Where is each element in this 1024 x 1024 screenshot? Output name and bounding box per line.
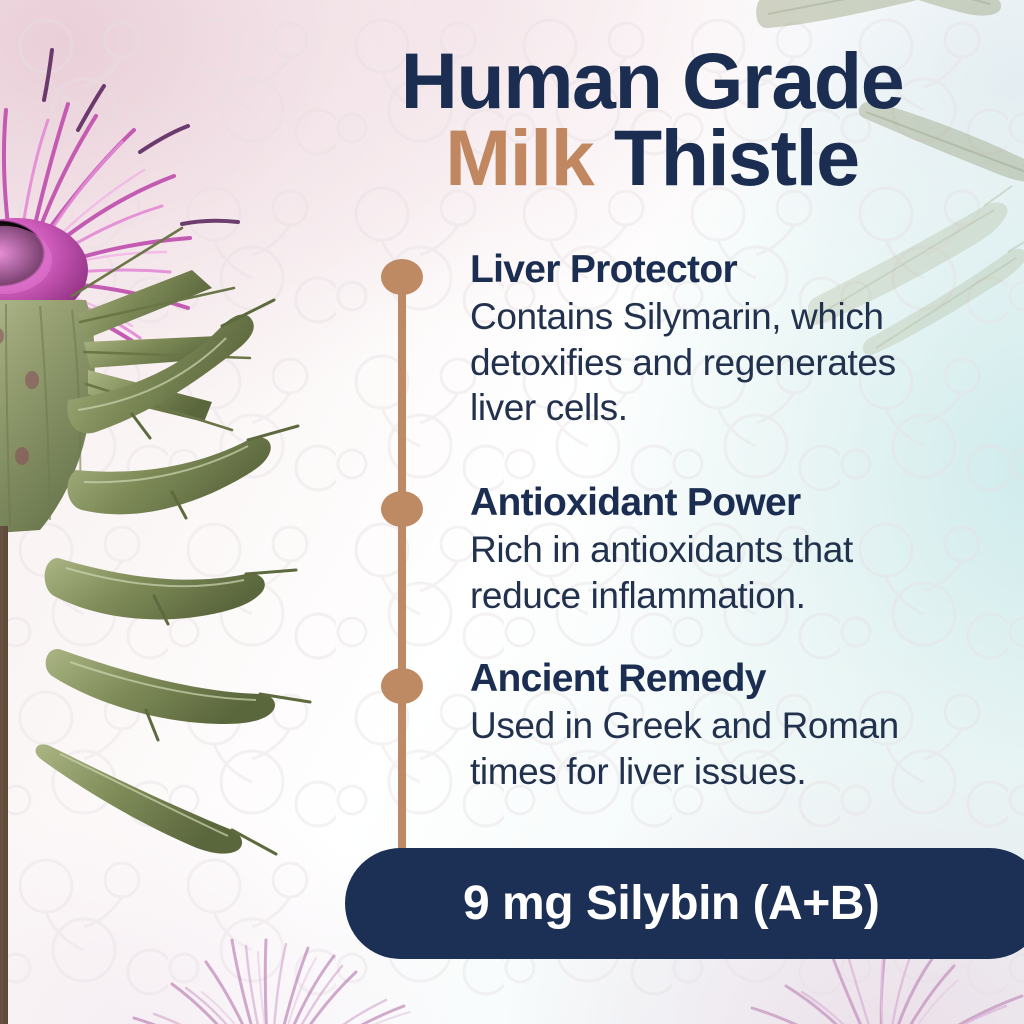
timeline-dot-icon [381, 259, 423, 295]
feature-title: Antioxidant Power [470, 481, 970, 525]
headline-accent-word: Milk [445, 113, 593, 202]
feature-description: Used in Greek and Roman times for liver … [470, 703, 970, 795]
dosage-badge-label: 9 mg Silybin (A+B) [463, 876, 879, 931]
feature-item: Ancient Remedy Used in Greek and Roman t… [470, 657, 970, 794]
feature-description: Contains Silymarin, which detoxifies and… [470, 294, 970, 432]
timeline-dot-icon [381, 491, 423, 527]
headline-line-1: Human Grade [352, 42, 952, 119]
timeline-dot-icon [381, 668, 423, 704]
headline-line-2-rest: Thistle [593, 113, 858, 202]
dosage-badge: 9 mg Silybin (A+B) [345, 848, 1024, 959]
headline-line-2: Milk Thistle [352, 119, 952, 196]
feature-title: Liver Protector [470, 248, 970, 292]
feature-item: Antioxidant Power Rich in antioxidants t… [470, 481, 970, 618]
poster-canvas: Human Grade Milk Thistle Liver Protector… [0, 0, 1024, 1024]
timeline-connector-line [398, 277, 406, 862]
feature-description: Rich in antioxidants that reduce inflamm… [470, 527, 970, 619]
feature-item: Liver Protector Contains Silymarin, whic… [470, 248, 970, 431]
page-title: Human Grade Milk Thistle [352, 42, 952, 197]
feature-title: Ancient Remedy [470, 657, 970, 701]
